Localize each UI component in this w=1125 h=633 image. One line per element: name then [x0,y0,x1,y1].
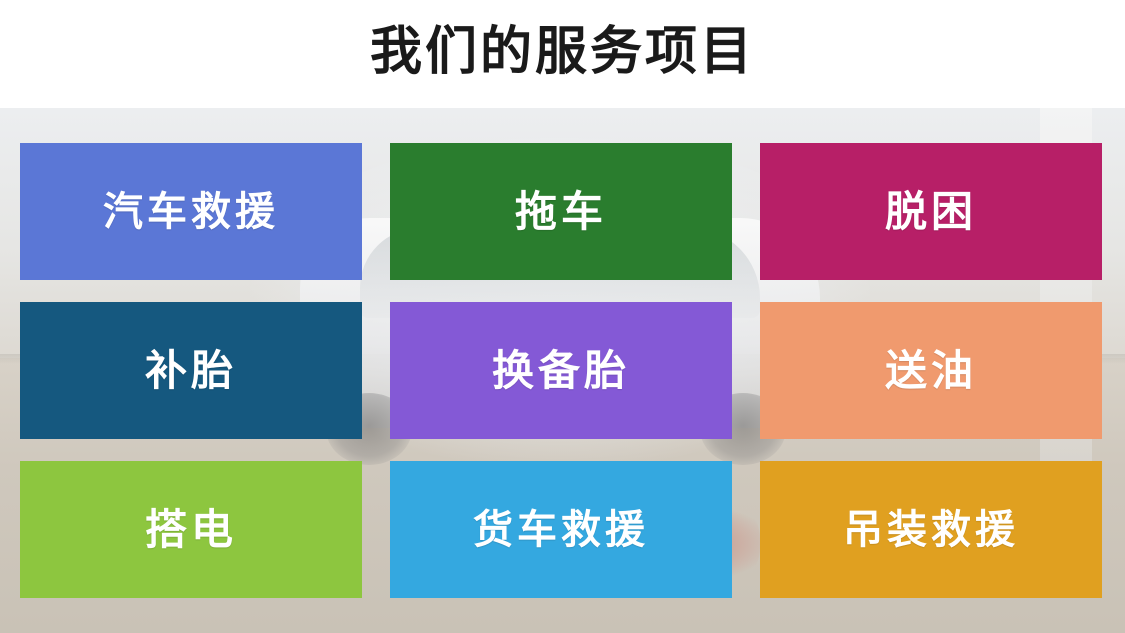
service-grid: 汽车救援 拖车 脱困 补胎 换备胎 送油 搭电 货车救援 吊装救援 [20,143,1105,603]
service-tile-label: 拖车 [515,191,607,233]
service-tile-label: 汽车救援 [103,192,279,232]
service-tile-fuel-delivery[interactable]: 送油 [760,302,1102,439]
service-tile-extrication[interactable]: 脱困 [760,143,1102,280]
page-title: 我们的服务项目 [370,26,755,82]
service-tile-crane-rescue[interactable]: 吊装救援 [760,461,1102,598]
service-tile-label: 货车救援 [473,510,649,550]
header: 我们的服务项目 [0,0,1125,108]
service-tile-label: 送油 [885,350,977,392]
service-tile-jump-start[interactable]: 搭电 [20,461,362,598]
service-tile-towing[interactable]: 拖车 [390,143,732,280]
service-tile-tire-repair[interactable]: 补胎 [20,302,362,439]
service-tile-spare-tire[interactable]: 换备胎 [390,302,732,439]
service-tile-label: 补胎 [145,350,237,392]
service-poster: 我们的服务项目 汽车救援 拖车 脱困 补胎 换备胎 送油 搭电 货车救援 吊装救… [0,0,1125,633]
service-tile-car-rescue[interactable]: 汽车救援 [20,143,362,280]
service-tile-truck-rescue[interactable]: 货车救援 [390,461,732,598]
service-tile-label: 吊装救援 [843,510,1019,550]
service-tile-label: 脱困 [885,191,977,233]
service-tile-label: 搭电 [145,509,237,551]
service-tile-label: 换备胎 [492,350,630,392]
